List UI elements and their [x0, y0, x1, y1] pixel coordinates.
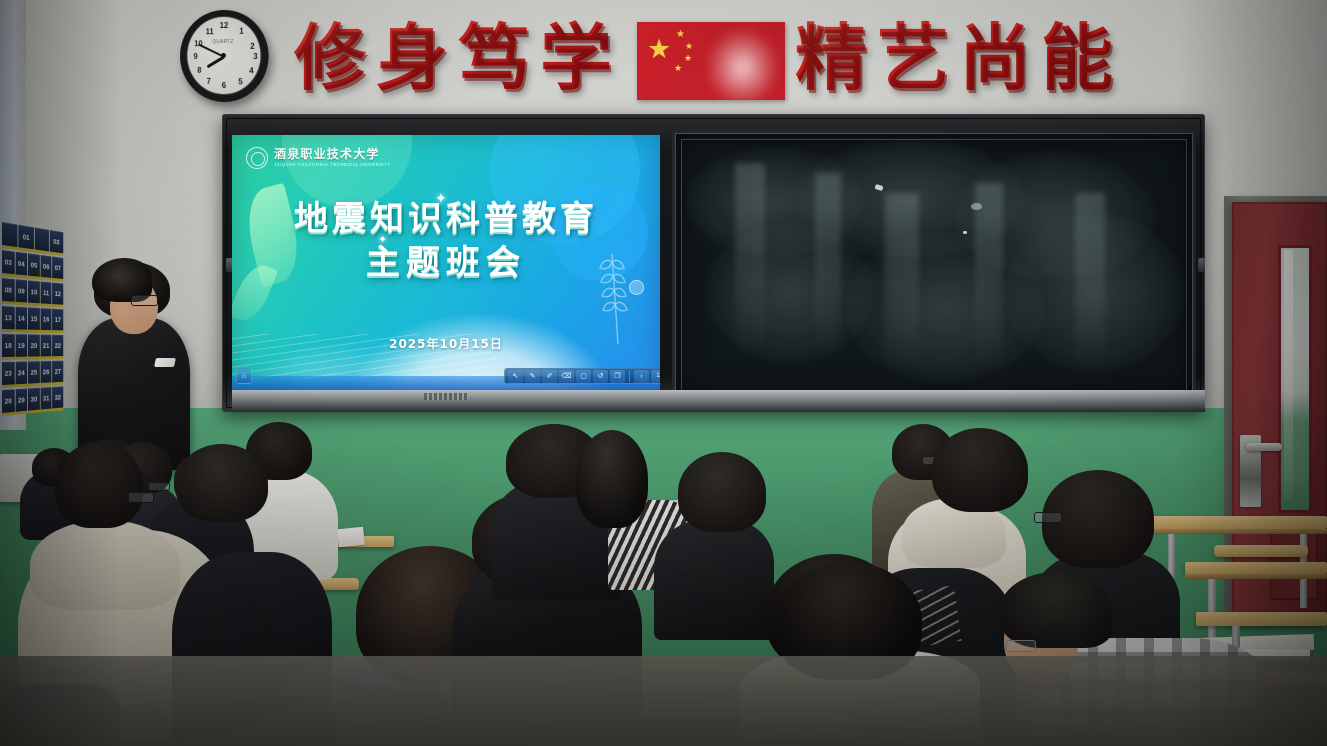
classroom-photo: QUARTZ 12 1 2 3 4 5 6 7 8 9 10 11 修身笃学 精… — [0, 0, 1327, 746]
pocket-row: 2829303132 — [2, 386, 63, 416]
pocket-slot[interactable]: 02 — [50, 230, 64, 253]
student-glasses — [1034, 512, 1062, 523]
clock-numeral-6: 6 — [218, 81, 230, 91]
student-hair — [1000, 572, 1112, 648]
flag-glare — [708, 28, 785, 100]
pocket-slot[interactable]: 07 — [52, 257, 63, 279]
flag-small-star-4: ★ — [674, 64, 682, 73]
slide-date: 2025年10月15日 — [232, 335, 660, 352]
pocket-slot[interactable]: 17 — [52, 309, 63, 331]
student-hair — [678, 452, 766, 532]
floor — [0, 656, 1327, 746]
clock-numeral-11: 11 — [204, 27, 215, 37]
prev-slide-icon[interactable]: ‹ — [634, 370, 649, 383]
clock-numeral-7: 7 — [203, 77, 214, 87]
toolbar-divider — [629, 371, 630, 382]
clock-numeral-12: 12 — [218, 21, 230, 31]
china-national-flag: ★ ★ ★ ★ ★ — [637, 22, 785, 100]
pocket-row: 1819202122 — [2, 334, 63, 360]
board-brand-logo — [424, 393, 468, 400]
clock-numeral-8: 8 — [194, 66, 205, 76]
screenshot-icon[interactable]: ❐ — [610, 370, 625, 383]
sparkle-icon-2: ✦ — [378, 235, 387, 246]
jacket-brand-logo — [154, 358, 176, 367]
sparkle-icon-1: ✦ — [435, 191, 447, 205]
flag-small-star-2: ★ — [685, 42, 693, 51]
pocket-row: 0809101112 — [2, 278, 63, 307]
whiteboard-home-button[interactable]: ⌂ — [236, 368, 252, 384]
whiteboard-toolbar[interactable]: ↖ ✎ ✐ ⌫ ▢ ↺ ❐ ‹ 1/8 › — [504, 368, 660, 384]
board-bottom-bezel — [232, 390, 1205, 412]
student-hair — [932, 428, 1028, 512]
highlighter-tool-icon[interactable]: ✐ — [542, 370, 557, 383]
pocket-slot[interactable]: 10 — [28, 280, 40, 303]
university-name-en: JIUQUAN VOCATIONAL TECHNICAL UNIVERSITY — [274, 162, 391, 168]
pocket-slot[interactable]: 32 — [52, 386, 63, 408]
presentation-screen[interactable]: 酒泉职业技术大学 JIUQUAN VOCATIONAL TECHNICAL UN… — [232, 135, 660, 390]
desk-top — [1152, 516, 1327, 529]
flag-small-star-1: ★ — [676, 30, 685, 40]
student-body — [654, 520, 774, 640]
clock-numeral-3: 3 — [249, 52, 261, 62]
wall-slogan-right: 精艺尚能 — [795, 18, 1123, 98]
pocket-slot[interactable]: 16 — [40, 308, 51, 330]
pocket-slot[interactable] — [34, 227, 48, 251]
clock-numeral-1: 1 — [236, 27, 248, 37]
student-hair — [55, 442, 143, 528]
pocket-slot[interactable]: 19 — [15, 334, 27, 357]
clock-numeral-5: 5 — [235, 77, 247, 87]
pocket-slot[interactable]: 27 — [52, 361, 63, 383]
pocket-slot[interactable]: 13 — [2, 306, 14, 329]
slide-title: 地震知识科普教育 主题班会 — [232, 197, 660, 285]
slide-corner-badge — [629, 280, 644, 295]
pocket-slot[interactable]: 31 — [40, 387, 51, 409]
desk-edge — [1185, 574, 1327, 579]
clock-face: QUARTZ 12 1 2 3 4 5 6 7 8 9 10 11 — [186, 15, 261, 96]
flag-small-star-3: ★ — [684, 54, 692, 63]
board-mount-right — [1198, 258, 1205, 272]
presenter-glasses — [131, 295, 158, 306]
door-handle[interactable] — [1246, 443, 1282, 451]
shape-tool-icon[interactable]: ▢ — [576, 370, 591, 383]
pocket-slot[interactable]: 23 — [2, 362, 14, 385]
pocket-slot[interactable]: 09 — [15, 279, 27, 302]
pocket-slot[interactable]: 08 — [2, 278, 14, 302]
pocket-slot[interactable]: 21 — [40, 335, 51, 357]
undo-icon[interactable]: ↺ — [593, 370, 608, 383]
pocket-slot[interactable]: 11 — [40, 282, 51, 304]
pocket-slot[interactable]: 25 — [28, 361, 40, 383]
pocket-slot[interactable]: 30 — [28, 388, 40, 411]
pocket-slot[interactable]: 24 — [15, 361, 27, 384]
pocket-slot[interactable]: 06 — [40, 255, 51, 278]
clock-brand: QUARTZ — [212, 38, 233, 44]
desk-top — [1196, 612, 1327, 626]
student-long-hair — [576, 430, 648, 528]
pocket-slot[interactable]: 03 — [2, 250, 14, 274]
clock-numeral-2: 2 — [246, 42, 258, 52]
pocket-slot[interactable]: 18 — [2, 334, 14, 357]
student-glasses — [128, 492, 154, 503]
flag-big-star: ★ — [647, 36, 671, 63]
clock-hour-hand — [207, 56, 225, 68]
student-glasses — [148, 482, 170, 491]
student-hair — [176, 444, 268, 522]
clock-numeral-4: 4 — [245, 66, 257, 76]
pocket-slot[interactable] — [2, 222, 18, 247]
clock-numeral-9: 9 — [190, 52, 201, 62]
sparkle-icon-3: ✦ — [522, 207, 530, 217]
pocket-slot[interactable]: 22 — [52, 335, 63, 356]
chair-back — [1214, 545, 1308, 557]
pocket-slot[interactable]: 01 — [19, 225, 34, 250]
pocket-slot[interactable]: 05 — [28, 253, 40, 276]
clock-center-pin — [221, 53, 226, 58]
eraser-tool-icon[interactable]: ⌫ — [559, 370, 574, 383]
phone-pocket-organizer: 0102030405060708091011121314151617181920… — [2, 222, 63, 470]
pocket-row: 2324252627 — [2, 361, 63, 388]
desk-top — [1185, 562, 1327, 574]
select-tool-icon[interactable]: ↖ — [508, 370, 523, 383]
pocket-slot[interactable]: 04 — [15, 252, 27, 276]
university-name-cn: 酒泉职业技术大学 — [274, 148, 391, 161]
pocket-slot[interactable]: 12 — [52, 283, 63, 305]
pocket-slot[interactable]: 26 — [40, 361, 51, 383]
notebook — [337, 527, 365, 548]
pocket-slot[interactable]: 20 — [28, 334, 40, 356]
pocket-slot[interactable]: 14 — [15, 307, 27, 330]
page-indicator: 1/8 — [651, 370, 660, 383]
student-glasses — [1006, 640, 1036, 652]
pocket-row: 1314151617 — [2, 306, 63, 333]
slide-university-logo-block: 酒泉职业技术大学 JIUQUAN VOCATIONAL TECHNICAL UN… — [246, 147, 391, 169]
blackboard — [672, 130, 1196, 400]
slide-title-line2: 主题班会 — [232, 241, 660, 285]
university-seal-icon — [246, 147, 268, 169]
pocket-slot[interactable]: 28 — [2, 389, 14, 413]
door-glass-sheen — [1284, 250, 1293, 500]
pocket-slot[interactable]: 15 — [28, 307, 40, 329]
wall-slogan-left: 修身笃学 — [294, 18, 622, 98]
pen-tool-icon[interactable]: ✎ — [525, 370, 540, 383]
student-hood — [30, 520, 180, 610]
pocket-slot[interactable]: 29 — [15, 389, 27, 412]
